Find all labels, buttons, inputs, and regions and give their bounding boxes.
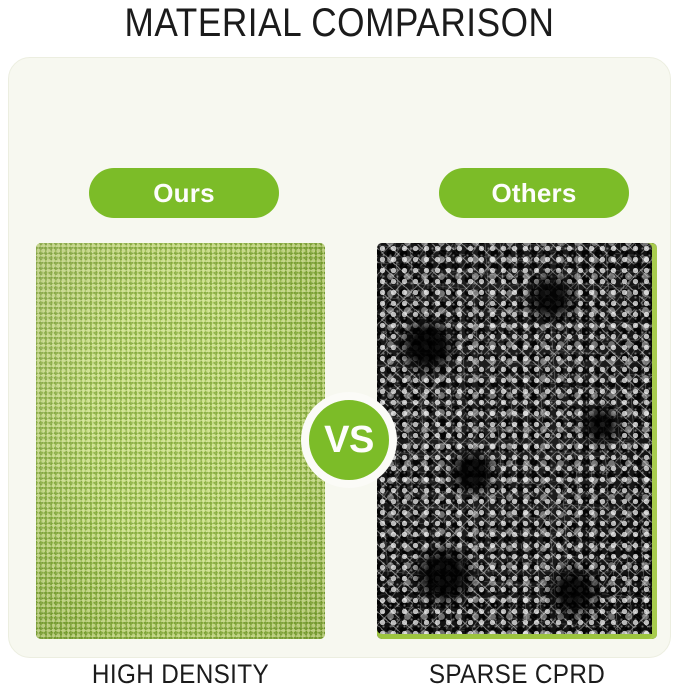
swatch-black-sparse-fiber-pad bbox=[377, 243, 657, 639]
versus-label: VS bbox=[324, 421, 374, 459]
badge-ours-label: Ours bbox=[153, 178, 214, 209]
comparison-graphic: MATERIAL COMPARISON Ours Others VS HIGH … bbox=[0, 0, 679, 665]
green-pad-shading-layer bbox=[36, 243, 325, 639]
caption-sparse-cprd: SPARSE CPRD bbox=[391, 656, 643, 692]
badge-others-label: Others bbox=[491, 178, 576, 209]
caption-high-density: HIGH DENSITY bbox=[50, 656, 310, 692]
versus-badge: VS bbox=[301, 392, 397, 488]
page-title: MATERIAL COMPARISON bbox=[41, 0, 639, 46]
swatch-green-dense-fiber-pad bbox=[36, 243, 325, 639]
badge-ours: Ours bbox=[89, 168, 279, 218]
badge-others: Others bbox=[439, 168, 629, 218]
dark-pad-green-edge bbox=[377, 243, 657, 639]
comparison-card: Ours Others VS HIGH DENSITY SPARSE CPRD bbox=[8, 57, 671, 658]
